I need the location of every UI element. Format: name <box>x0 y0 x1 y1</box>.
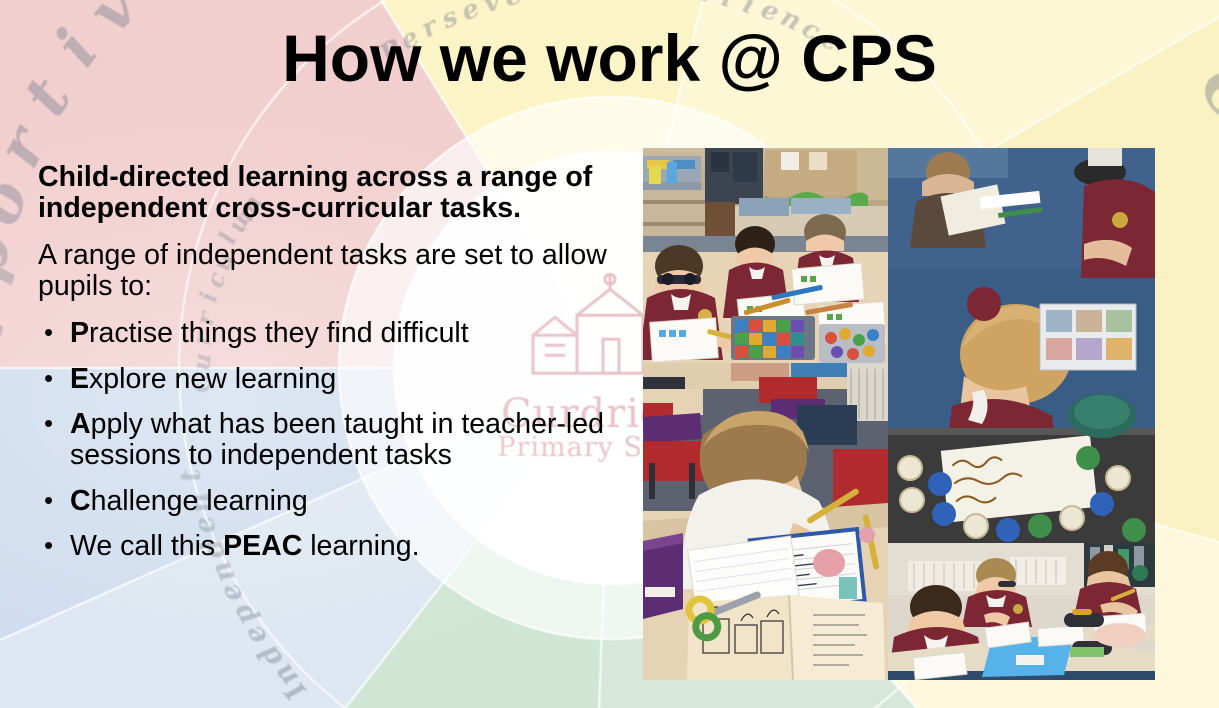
slide: Supportive Maths Confident Motivation In… <box>0 0 1219 708</box>
bullet-initial: E <box>70 363 89 395</box>
bullet-text: ractise things they find difficult <box>89 317 469 349</box>
peac-before-text: We call this <box>70 530 223 562</box>
peac-bullet-list: Practise things they find difficult Expl… <box>38 318 628 562</box>
photo-top-left <box>643 148 888 363</box>
page-title: How we work @ CPS <box>0 24 1219 93</box>
list-item: Challenge learning <box>38 486 628 517</box>
photo-collage <box>643 148 1155 680</box>
bullet-initial: C <box>70 485 91 517</box>
bullet-text: pply what has been taught in teacher-led… <box>70 408 604 471</box>
photo-bottom-left <box>643 363 888 680</box>
list-item-peac: We call this PEAC learning. <box>38 531 628 562</box>
lead-paragraph: Child-directed learning across a range o… <box>38 162 628 224</box>
photo-top-right <box>888 148 1155 543</box>
list-item: Apply what has been taught in teacher-le… <box>38 409 628 472</box>
bullet-initial: P <box>70 317 89 349</box>
bullet-text: xplore new learning <box>89 363 336 395</box>
bullet-text: hallenge learning <box>91 485 308 517</box>
photo-bottom-right <box>888 543 1155 680</box>
list-item: Explore new learning <box>38 364 628 395</box>
bullet-initial: A <box>70 408 91 440</box>
peac-emphasis: PEAC <box>223 530 302 562</box>
intro-paragraph: A range of independent tasks are set to … <box>38 240 628 303</box>
body-text-column: Child-directed learning across a range o… <box>38 162 628 576</box>
peac-after-text: learning. <box>302 530 419 562</box>
list-item: Practise things they find difficult <box>38 318 628 349</box>
